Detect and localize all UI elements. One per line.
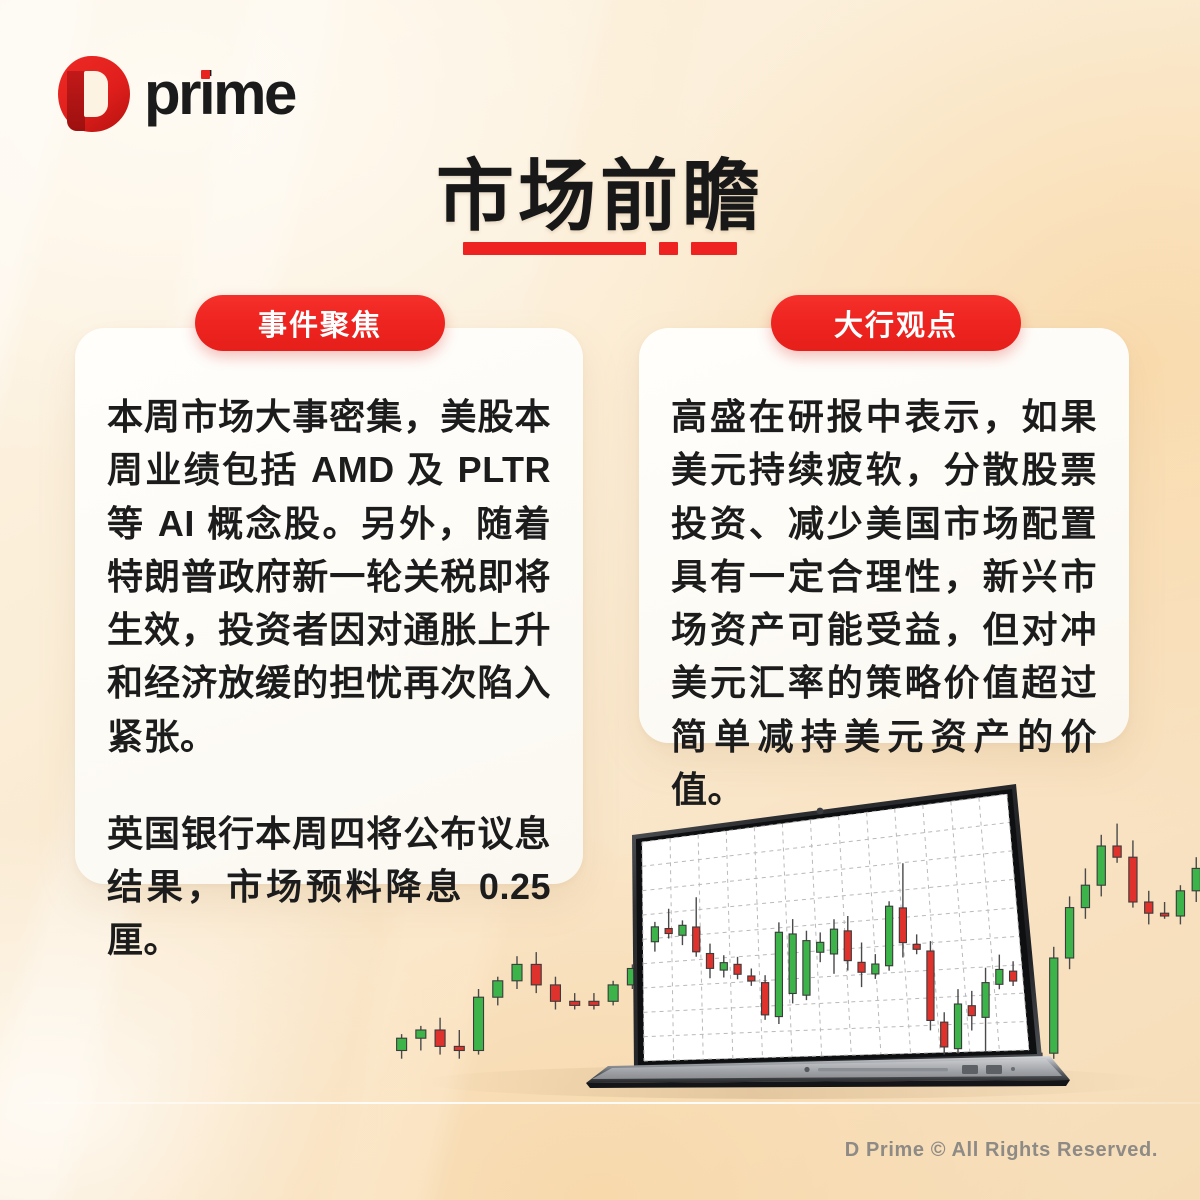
candles-foreground-right — [1034, 801, 1200, 1059]
card-paragraph: 本周市场大事密集，美股本周业绩包括 AMD 及 PLTR 等 AI 概念股。另外… — [107, 390, 551, 763]
card-bank-view-body: 高盛在研报中表示，如果美元持续疲软，分散股票投资、减少美国市场配置具有一定合理性… — [639, 390, 1129, 816]
rule-segment-dot — [659, 242, 678, 255]
rule-segment-long — [463, 242, 646, 255]
d-prime-logo-icon — [58, 56, 130, 132]
rule-segment-mid — [691, 242, 737, 255]
poster-canvas: prime 市场前瞻 本周市场大事密集，美股本周业绩包括 AMD 及 PLTR … — [0, 0, 1200, 1200]
badge-bank-view[interactable]: 大行观点 — [771, 295, 1021, 351]
logo-accent-dot-icon — [201, 70, 210, 79]
badge-event-focus-label: 事件聚焦 — [258, 302, 382, 344]
card-bank-view: 高盛在研报中表示，如果美元持续疲软，分散股票投资、减少美国市场配置具有一定合理性… — [639, 328, 1129, 743]
brand-logo[interactable]: prime — [58, 56, 295, 132]
brand-wordmark: prime — [144, 64, 295, 124]
laptop-illustration — [390, 780, 1200, 1110]
footer-copyright: D Prime © All Rights Reserved. — [845, 1139, 1158, 1162]
candles-foreground-left — [397, 952, 638, 1059]
brand-wordmark-text: prime — [144, 60, 295, 127]
page-title: 市场前瞻 — [0, 134, 1200, 246]
badge-event-focus[interactable]: 事件聚焦 — [195, 295, 445, 351]
floor-highlight — [0, 1102, 1200, 1104]
title-underline-decoration — [0, 242, 1200, 255]
badge-bank-view-label: 大行观点 — [834, 302, 958, 344]
candlestick-chart-icon — [390, 780, 1200, 1110]
card-paragraph: 高盛在研报中表示，如果美元持续疲软，分散股票投资、减少美国市场配置具有一定合理性… — [671, 390, 1097, 816]
